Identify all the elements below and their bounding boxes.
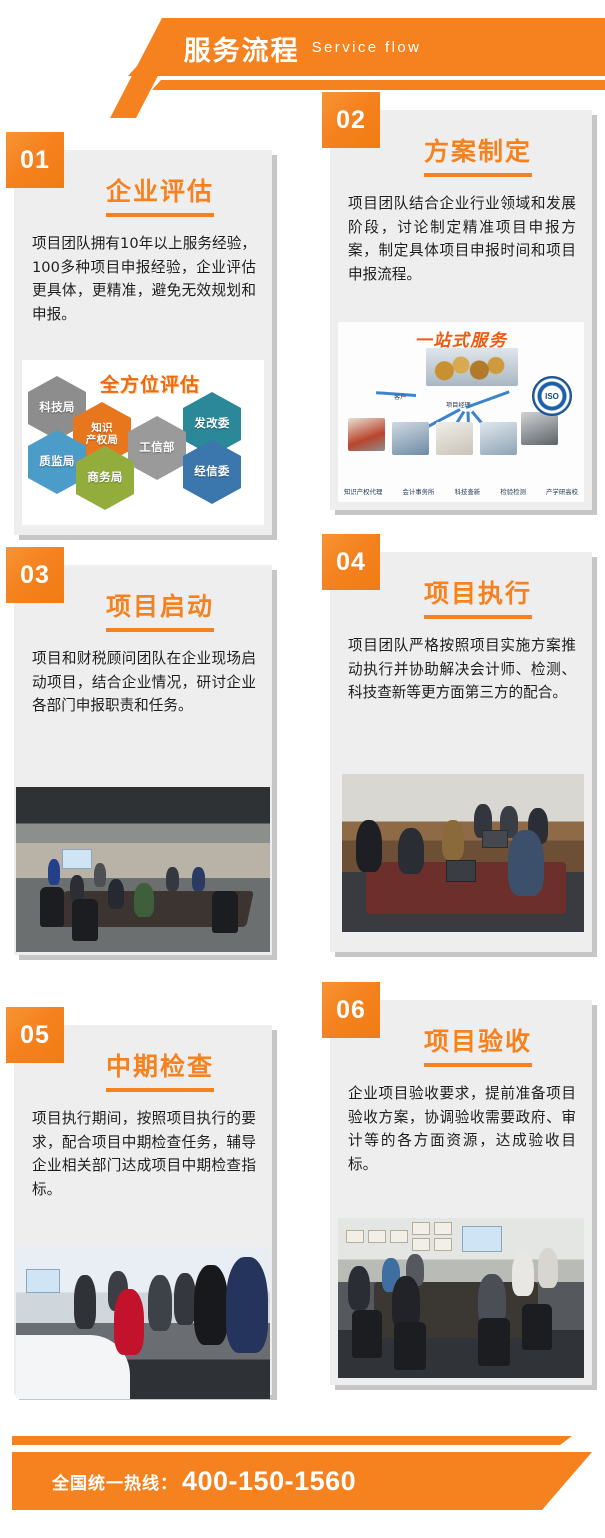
person [192,867,205,891]
step-description-02: 项目团队结合企业行业领域和发展阶段，讨论制定精准项目申报方案，制定具体项目申报时… [348,192,576,287]
step-title-04: 项目执行 [424,574,532,619]
person [194,1265,228,1345]
hotline-label: 全国统一热线： [52,1469,178,1494]
step-number-badge-01: 01 [6,132,64,188]
wall-certificate [412,1238,430,1251]
step-card-03: 03 项目启动 项目和财税顾问团队在企业现场启动项目，结合企业情况，研讨企业各部… [14,565,272,955]
step-description-01: 项目团队拥有10年以上服务经验，100多种项目申报经验，企业评估更具体，更精准，… [32,232,256,327]
person [512,1252,534,1296]
step-number-badge-03: 03 [6,547,64,603]
person [166,867,179,891]
osd-iso-seal-text: ISO [533,377,571,415]
chair [40,887,64,927]
step-card-04: 04 项目执行 项目团队严格按照项目实施方案推动执行并协助解决会计师、检测、科技… [330,552,592,952]
osd-node-inspection [480,422,517,455]
chair [212,891,238,933]
display-monitor [26,1269,60,1293]
osd-node-accounting [392,422,429,455]
footer-thin-bar [12,1436,572,1445]
step-description-06: 企业项目验收要求，提前准备项目验收方案，协调验收需要政府、审计等的各方面资源，达… [348,1082,576,1177]
page-title-en: Service flow [312,39,422,58]
step-card-06: 06 项目验收 企业项目验收要求，提前准备项目验收方案，协调验收需要政府、审计等… [330,1000,592,1385]
osd-caption-inspection: 检验检测 [500,487,526,496]
person [356,820,382,872]
osd-arrow-2 [465,390,509,409]
page-header: 服务流程 Service flow [0,0,605,118]
person [174,1273,196,1325]
person [134,883,154,917]
person [508,830,544,896]
person-red-coat [114,1289,144,1355]
osd-canvas: 一站式服务 客户 项目经理 ISO 知识产权代理 [338,322,584,502]
osd-caption-ip: 知识产权代理 [344,487,382,496]
step-card-01: 01 企业评估 项目团队拥有10年以上服务经验，100多种项目申报经验，企业评估… [14,150,272,535]
hexagon-diagram-title: 全方位评估 [100,370,200,397]
step-number-badge-02: 02 [322,92,380,148]
person [226,1257,268,1353]
wall-certificate [390,1230,408,1243]
step-description-03: 项目和财税顾问团队在企业现场启动项目，结合企业情况，研讨企业各部门申报职责和任务… [32,647,256,718]
hex-node-gongxin-bu: 工信部 [128,416,186,480]
osd-caption-row: 知识产权代理 会计事务所 科技查新 检验检测 产学研高校 [344,487,578,496]
page-footer: 全国统一热线： 400-150-1560 [0,1432,605,1538]
footer-hotline-group: 全国统一热线： 400-150-1560 [52,1452,356,1510]
service-flow-infographic: 服务流程 Service flow 01 企业评估 项目团队拥有10年以上服务经… [0,0,605,1538]
conference-room-photo [16,787,270,952]
osd-node-university [521,412,558,445]
step-card-02: 02 方案制定 项目团队结合企业行业领域和发展阶段，讨论制定精准项目申报方案，制… [330,110,592,510]
acceptance-meeting-photo [338,1218,584,1378]
person [348,1266,370,1310]
wall-certificate [412,1222,430,1235]
header-underline-bar [152,80,605,90]
step-number-badge-06: 06 [322,982,380,1038]
osd-node-tech-search [436,422,473,455]
step-number-badge-04: 04 [322,534,380,590]
osd-node-ip-agency [348,418,385,451]
working-meeting-photo [342,774,584,932]
osd-team-photo [426,348,518,386]
step-card-05: 05 中期检查 项目执行期间，按照项目执行的要求，配合项目中期检查任务，辅导企业… [14,1025,272,1395]
chair [352,1310,382,1358]
step-description-04: 项目团队严格按照项目实施方案推动执行并协助解决会计师、检测、科技查新等更方面第三… [348,634,576,705]
chair [72,899,98,941]
one-stop-service-diagram: 一站式服务 客户 项目经理 ISO 知识产权代理 [338,322,584,502]
projector-screen [462,1226,502,1252]
laptop [446,860,476,882]
step-title-03: 项目启动 [106,587,214,632]
osd-caption-university: 产学研高校 [546,487,578,496]
person [74,1275,96,1329]
hex-node-jingxin-wei: 经信委 [183,440,241,504]
wall-certificate [434,1238,452,1251]
person [398,828,424,874]
osd-caption-accounting: 会计事务所 [403,487,435,496]
step-description-05: 项目执行期间，按照项目执行的要求，配合项目中期检查任务，辅导企业相关部门达成项目… [32,1107,256,1202]
person [442,820,464,860]
whiteboard [62,849,92,869]
person [94,863,106,887]
step-title-06: 项目验收 [424,1022,532,1067]
person [148,1275,172,1331]
chair [522,1304,552,1350]
hexagon-cluster: 科技局 知识产权局 发改委 质监局 工信部 商务局 经信委 全方位评估 [28,368,256,508]
person [48,859,60,885]
page-title-cn: 服务流程 [184,29,300,68]
step-title-01: 企业评估 [106,172,214,217]
hotline-number[interactable]: 400-150-1560 [182,1466,356,1497]
chair [394,1322,426,1370]
wall-certificate [346,1230,364,1243]
person [70,875,84,901]
osd-caption-techsearch: 科技查新 [455,487,481,496]
wall-certificate [368,1230,386,1243]
header-title-group: 服务流程 Service flow [0,22,605,74]
wall-certificate [434,1222,452,1235]
hexagon-assessment-diagram: 科技局 知识产权局 发改委 质监局 工信部 商务局 经信委 全方位评估 [22,360,264,525]
chair [478,1318,510,1366]
step-number-badge-05: 05 [6,1007,64,1063]
step-title-05: 中期检查 [106,1047,214,1092]
person [108,879,124,909]
laptop [482,830,508,848]
reception-counter [16,1335,130,1399]
site-visit-photo [16,1247,270,1399]
person [538,1248,558,1288]
osd-iso-seal: ISO [532,376,572,416]
step-title-02: 方案制定 [424,132,532,177]
